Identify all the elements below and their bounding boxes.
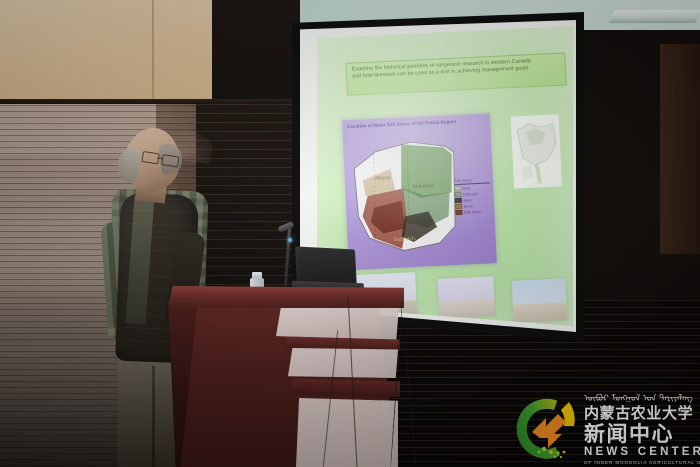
photo-ground bbox=[513, 302, 568, 322]
legend-label: Brown bbox=[464, 204, 474, 208]
trouser-seam bbox=[152, 366, 155, 467]
svg-text:Manitoba: Manitoba bbox=[413, 183, 434, 190]
slide-title-box: Examine the historical priorities of ran… bbox=[346, 52, 567, 95]
ceiling-light-fixture bbox=[609, 10, 700, 23]
podium-paper-middle bbox=[288, 348, 398, 378]
rangeland-photo-2 bbox=[437, 276, 495, 319]
map-caption: Location of Major Soil Zones of the Prai… bbox=[347, 118, 485, 130]
legend-label: Dark grey bbox=[463, 191, 478, 196]
water-bottle-cap bbox=[252, 272, 262, 279]
legend-item: Dark brown bbox=[455, 208, 491, 215]
legend-label: Dark brown bbox=[464, 209, 482, 214]
watermark-center-en: NEWS CENTER bbox=[584, 446, 700, 459]
watermark-university-cn: 内蒙古农业大学 bbox=[584, 405, 700, 423]
legend-title: Soil zones bbox=[454, 177, 490, 184]
watermark-mongolian: ᠥᠪᠥᠷ ᠮᠣᠩᠭᠣᠯ ᠤᠨ ᠲᠠᠷᠢᠶᠠᠯᠠᠩ bbox=[584, 394, 700, 405]
legend-swatch bbox=[454, 192, 461, 197]
legend-swatch bbox=[455, 204, 462, 209]
watermark-center-cn: 新闻中心 bbox=[584, 423, 700, 446]
watermark-text-block: ᠥᠪᠥᠷ ᠮᠣᠩᠭᠣᠯ ᠤᠨ ᠲᠠᠷᠢᠶᠠᠯᠠᠩ 内蒙古农业大学 新闻中心 NE… bbox=[584, 394, 700, 466]
relief-map-inset bbox=[511, 114, 562, 188]
soil-zone-legend: Soil zones Grey Dark grey Black bbox=[454, 177, 492, 216]
photo-sky bbox=[437, 276, 494, 302]
watermark-university-en: OF INNER MONGOLIA AGRICULTURAL UNIVERSIT… bbox=[584, 459, 700, 466]
legend-swatch bbox=[455, 210, 462, 215]
relief-map-drawing bbox=[511, 114, 562, 188]
lecture-photo-scene: Examine the historical priorities of ran… bbox=[0, 0, 700, 467]
news-center-logo-icon bbox=[514, 396, 580, 462]
soil-zone-map-panel: Location of Major Soil Zones of the Prai… bbox=[342, 113, 497, 270]
podium-paper-lower bbox=[296, 398, 398, 467]
podium-trim-band-2 bbox=[292, 379, 400, 398]
podium-top-surface bbox=[168, 286, 404, 308]
microphone-led-indicator bbox=[288, 238, 292, 242]
svg-text:Saskatch.: Saskatch. bbox=[394, 236, 417, 243]
photo-sky bbox=[512, 278, 567, 305]
news-center-watermark: ᠥᠪᠥᠷ ᠮᠣᠩᠭᠣᠯ ᠤᠨ ᠲᠠᠷᠢᠶᠠᠯᠠᠩ 内蒙古农业大学 新闻中心 NE… bbox=[508, 392, 700, 467]
svg-text:Alberta: Alberta bbox=[375, 175, 391, 182]
right-wood-column bbox=[660, 44, 700, 254]
legend-label: Grey bbox=[463, 186, 471, 190]
legend-swatch bbox=[455, 198, 462, 203]
legend-swatch bbox=[454, 186, 461, 191]
photo-ground bbox=[439, 299, 496, 319]
rangeland-photo-3 bbox=[512, 278, 568, 323]
legend-label: Black bbox=[463, 198, 471, 202]
prairie-provinces-map: Alberta Manitoba Saskatch. bbox=[349, 130, 467, 261]
